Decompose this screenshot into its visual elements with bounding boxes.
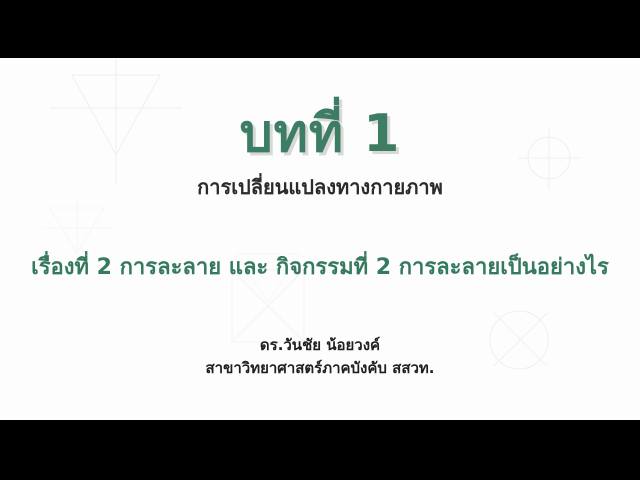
slide-frame: บทที่ 1 การเปลี่ยนแปลงทางกายภาพ เรื่องที… xyxy=(0,0,640,480)
topic-heading: เรื่องที่ 2 การละลาย และ กิจกรรมที่ 2 กา… xyxy=(0,256,640,280)
letterbox-bar-bottom xyxy=(0,420,640,480)
author-block: ดร.วันชัย น้อยวงค์ สาขาวิทยาศาสตร์ภาคบัง… xyxy=(0,334,640,379)
chapter-subtitle: การเปลี่ยนแปลงทางกายภาพ xyxy=(0,176,640,198)
author-name: ดร.วันชัย น้อยวงค์ xyxy=(0,334,640,357)
letterbox-bar-top xyxy=(0,0,640,58)
author-affiliation: สาขาวิทยาศาสตร์ภาคบังคับ สสวท. xyxy=(0,357,640,380)
slide-content: บทที่ 1 การเปลี่ยนแปลงทางกายภาพ เรื่องที… xyxy=(0,58,640,420)
slide-canvas: บทที่ 1 การเปลี่ยนแปลงทางกายภาพ เรื่องที… xyxy=(0,58,640,420)
chapter-title: บทที่ 1 xyxy=(0,108,640,160)
